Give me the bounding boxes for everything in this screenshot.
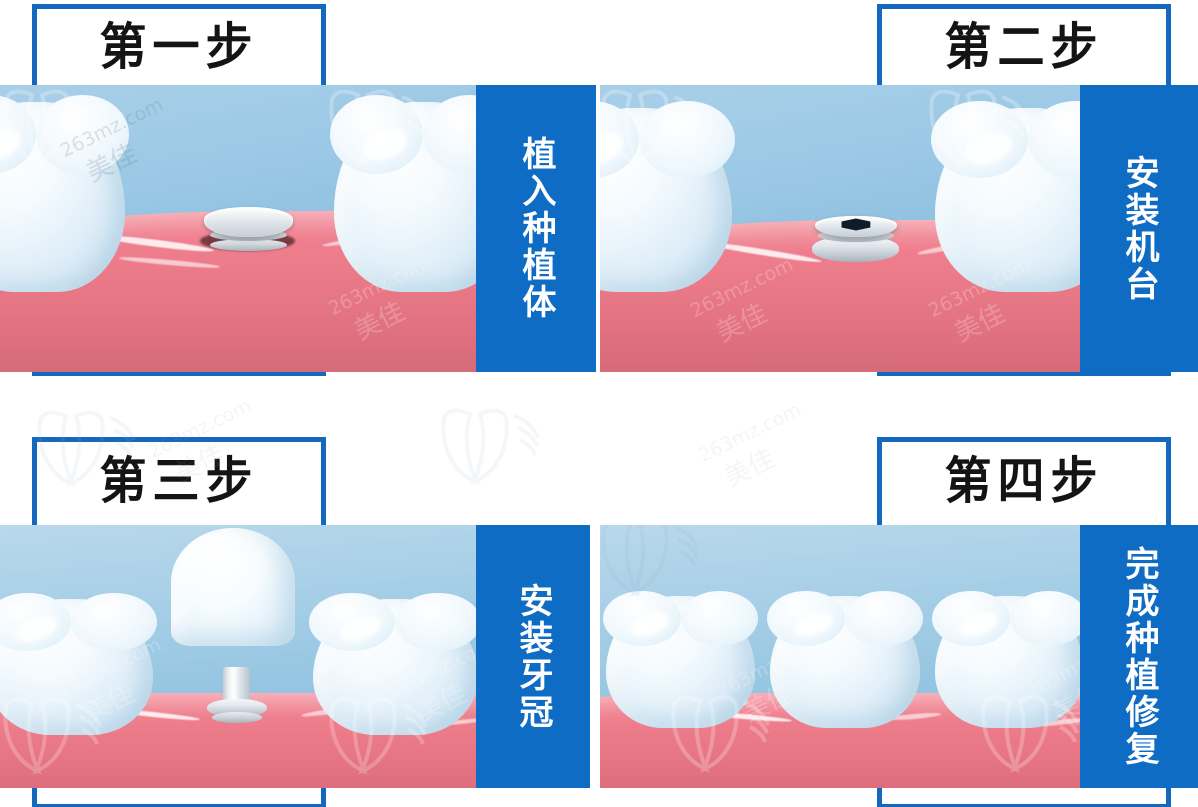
svg-text:263mz.com: 263mz.com — [695, 399, 805, 468]
step-2-label: 安装机台 — [1119, 155, 1159, 303]
tooth-cusp — [1010, 591, 1088, 646]
step-2-label-bar: 安装机台 — [1080, 85, 1198, 372]
step-1-label-bar: 植入种植体 — [476, 85, 596, 372]
tooth-left — [0, 599, 153, 736]
step-4-label-bar: 完成种植修复 — [1080, 525, 1198, 788]
tooth-right — [313, 599, 478, 736]
tooth-cusp — [71, 593, 157, 650]
step-1-title-box: 第一步 — [37, 9, 321, 85]
tooth-left — [600, 108, 732, 292]
tooth-cusp — [681, 591, 759, 646]
tooth-right — [935, 596, 1085, 728]
watermark-text: 263mz.com 美佳 — [693, 368, 877, 507]
implant-cover-cap — [204, 207, 293, 237]
step-3-label: 安装牙冠 — [513, 583, 553, 731]
svg-text:美佳: 美佳 — [720, 444, 780, 494]
tooth-left — [0, 102, 125, 291]
tooth-cusp — [36, 95, 129, 175]
watermark-logo — [430, 398, 550, 498]
step-1-title: 第一步 — [100, 22, 259, 72]
tooth-cusp — [845, 591, 923, 646]
step-4-label: 完成种植修复 — [1119, 546, 1159, 768]
step-3-title-box: 第三步 — [37, 442, 321, 520]
abutment-base-ring — [212, 712, 262, 723]
tooth-cusp — [639, 101, 735, 178]
step-4-title: 第四步 — [945, 456, 1104, 506]
tooth-implant-crown — [770, 596, 920, 728]
step-3-label-bar: 安装牙冠 — [476, 525, 590, 788]
implant-steps-infographic: 263mz.com 美佳 263mz.com — [0, 0, 1198, 807]
step-2-title: 第二步 — [945, 22, 1104, 72]
step-3-title: 第三步 — [100, 456, 259, 506]
step-2-title-box: 第二步 — [882, 9, 1166, 85]
tooth-cusp — [395, 593, 481, 650]
tooth-left — [606, 596, 756, 728]
step-4-title-box: 第四步 — [882, 442, 1166, 520]
step-1-label: 植入种植体 — [516, 136, 556, 321]
dental-crown — [171, 528, 295, 646]
